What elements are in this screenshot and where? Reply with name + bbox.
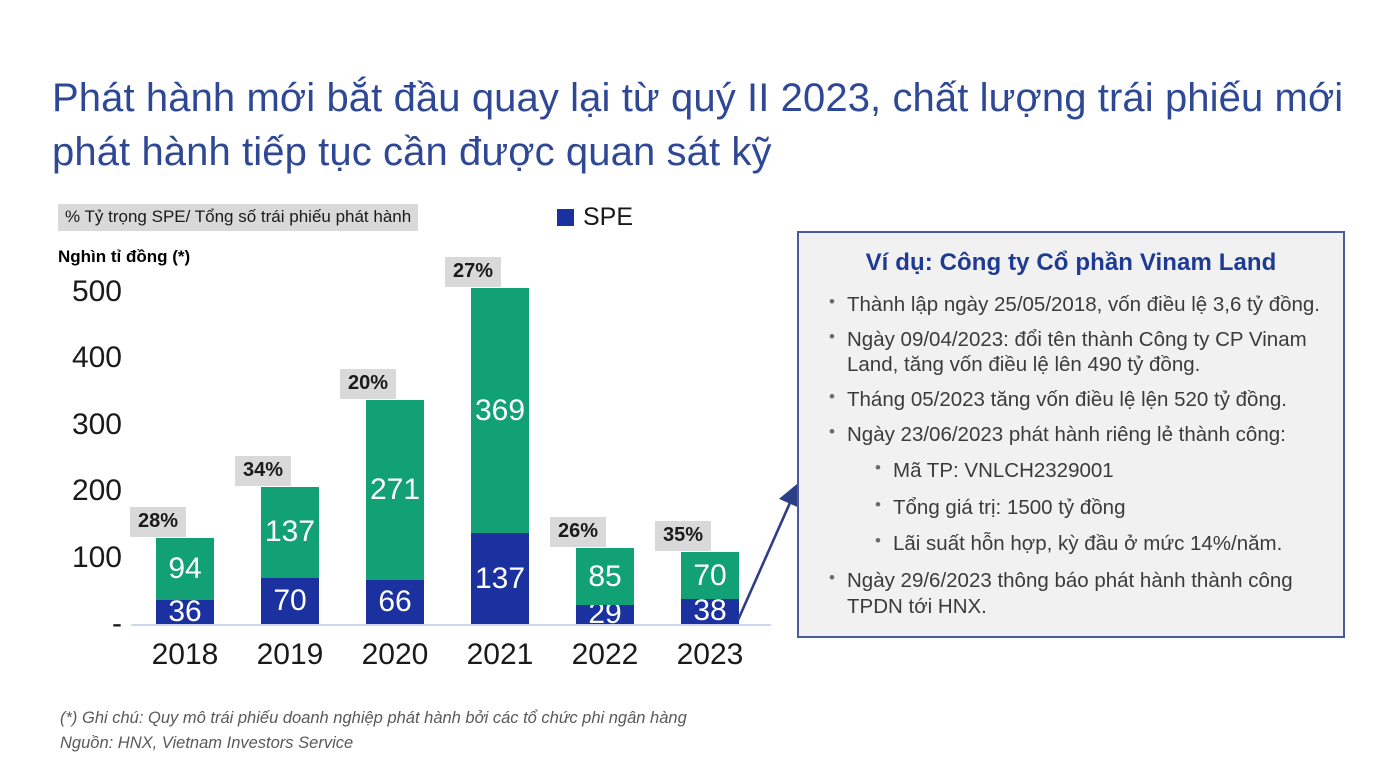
bar-segment-spe: 137 [471,533,529,624]
bar-segment-spe: 70 [261,578,319,624]
callout-bullet: Tháng 05/2023 tăng vốn điều lệ lện 520 t… [829,387,1329,413]
x-axis-label: 2018 [125,638,245,672]
footnote: (*) Ghi chú: Quy mô trái phiếu doanh ngh… [60,706,687,756]
bar-value-label: 85 [588,562,621,592]
callout-bullet-list: Thành lập ngày 25/05/2018, vốn điều lệ 3… [799,292,1343,619]
bar-column: 3870 [681,552,739,624]
slide-canvas: Phát hành mới bắt đầu quay lại từ quý II… [0,0,1390,762]
bar-segment-other: 137 [261,487,319,578]
percent-annotation: 27% [445,257,501,287]
y-axis-tick: 400 [44,341,122,375]
percent-annotation: 34% [235,456,291,486]
callout-sub-bullet: Lãi suất hỗn hợp, kỳ đầu ở mức 14%/năm. [875,531,1329,557]
y-axis-tick: 500 [44,275,122,309]
callout-bullet: Ngày 29/6/2023 thông báo phát hành thành… [829,568,1329,619]
y-axis-tick: 100 [44,541,122,575]
bar-value-label: 70 [693,561,726,591]
bar-segment-spe: 66 [366,580,424,624]
callout-sub-bullet: Tổng giá trị: 1500 tỷ đồng [875,495,1329,521]
bar-segment-other: 94 [156,538,214,600]
percent-annotation: 26% [550,517,606,547]
x-axis-label: 2021 [440,638,560,672]
bar-segment-other: 271 [366,400,424,580]
bar-column: 3694 [156,538,214,624]
bar-segment-other: 85 [576,548,634,604]
bar-segment-other: 369 [471,288,529,533]
bar-value-label: 137 [265,517,315,547]
callout-bullet: Thành lập ngày 25/05/2018, vốn điều lệ 3… [829,292,1329,318]
callout-sub-bullet: Mã TP: VNLCH2329001 [875,458,1329,484]
bar-value-label: 36 [168,597,201,627]
callout-heading: Ví dụ: Công ty Cổ phần Vinam Land [799,233,1343,283]
plot-area: 369428%20187013734%20196627120%202013736… [131,0,771,700]
y-axis-tick: 200 [44,474,122,508]
y-axis-tick: 300 [44,408,122,442]
percent-annotation: 28% [130,507,186,537]
callout-bullet: Ngày 09/04/2023: đổi tên thành Công ty C… [829,327,1329,378]
bar-value-label: 94 [168,554,201,584]
footnote-line-2: Nguồn: HNX, Vietnam Investors Service [60,731,687,756]
bar-value-label: 271 [370,475,420,505]
x-axis-label: 2019 [230,638,350,672]
callout-bullet: Ngày 23/06/2023 phát hành riêng lẻ thành… [829,422,1329,448]
bar-segment-other: 70 [681,552,739,598]
y-axis-tick: - [44,607,122,641]
bar-value-label: 66 [378,587,411,617]
bar-value-label: 369 [475,396,525,426]
footnote-line-1: (*) Ghi chú: Quy mô trái phiếu doanh ngh… [60,706,687,731]
example-callout-box: Ví dụ: Công ty Cổ phần Vinam Land Thành … [797,231,1345,638]
bar-value-label: 137 [475,564,525,594]
bar-column: 66271 [366,400,424,624]
x-axis-label: 2022 [545,638,665,672]
percent-annotation: 20% [340,369,396,399]
bar-value-label: 70 [273,586,306,616]
x-axis-label: 2023 [650,638,770,672]
bar-segment-spe: 36 [156,600,214,624]
bar-column: 70137 [261,487,319,624]
y-axis-ticks: 500400300200100- [44,0,122,700]
stacked-bar-chart: 500400300200100- 369428%20187013734%2019… [0,0,800,700]
bar-column: 2985 [576,548,634,624]
bar-segment-spe: 38 [681,599,739,624]
callout-sub-bullet-list: Mã TP: VNLCH2329001Tổng giá trị: 1500 tỷ… [829,458,1329,557]
percent-annotation: 35% [655,521,711,551]
bar-value-label: 38 [693,596,726,626]
bar-segment-spe: 29 [576,605,634,624]
x-axis-label: 2020 [335,638,455,672]
bar-column: 137369 [471,288,529,624]
